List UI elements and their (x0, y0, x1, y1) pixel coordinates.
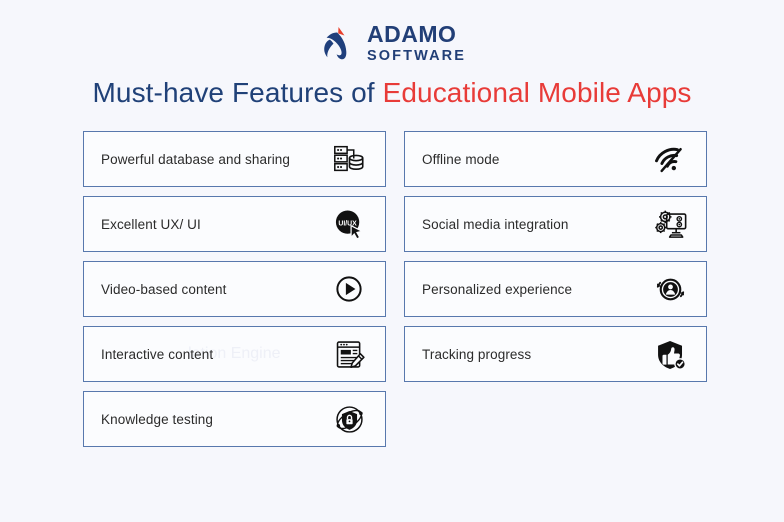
feature-card-label: Personalized experience (422, 282, 572, 297)
feature-column-left: Powerful database and sharing (83, 131, 386, 447)
gears-monitor-icon (651, 205, 689, 243)
shield-lock-orbit-icon (330, 400, 368, 438)
brand-name-line1: ADAMO (367, 23, 456, 46)
play-button-icon (330, 270, 368, 308)
feature-card-label: Video-based content (101, 282, 227, 297)
feature-card-label: Interactive content (101, 347, 213, 362)
feature-card-personalized-experience[interactable]: Personalized experience (404, 261, 707, 317)
svg-text:UI/UX: UI/UX (338, 220, 357, 227)
brand-wordmark: ADAMO SOFTWARE (367, 23, 466, 64)
database-server-icon (330, 140, 368, 178)
adamo-swoosh-logo-icon (318, 23, 358, 63)
feature-card-label: Tracking progress (422, 347, 531, 362)
feature-card-offline-mode[interactable]: Offline mode (404, 131, 707, 187)
feature-card-label: Knowledge testing (101, 412, 213, 427)
feature-card-label: Excellent UX/ UI (101, 217, 201, 232)
page-title-lead: Must-have Features of (92, 77, 382, 108)
feature-card-powerful-database-and-sharing[interactable]: Powerful database and sharing (83, 131, 386, 187)
brand-name-line2: SOFTWARE (367, 49, 466, 64)
feature-card-video-based-content[interactable]: Video-based content (83, 261, 386, 317)
document-pencil-icon (330, 335, 368, 373)
feature-card-knowledge-testing[interactable]: Knowledge testing (83, 391, 386, 447)
feature-card-tracking-progress[interactable]: Tracking progress (404, 326, 707, 382)
feature-card-excellent-ux-ui[interactable]: Excellent UX/ UI UI/UX (83, 196, 386, 252)
feature-card-label: Social media integration (422, 217, 568, 232)
feature-card-label: Offline mode (422, 152, 500, 167)
feature-cards-grid: Powerful database and sharing (83, 131, 707, 447)
feature-card-label: Powerful database and sharing (101, 152, 290, 167)
wifi-off-icon (651, 140, 689, 178)
page-title: Must-have Features of Educational Mobile… (0, 77, 784, 109)
brand-logo: ADAMO SOFTWARE (0, 0, 784, 64)
feature-card-interactive-content[interactable]: Interactive content lation Engine (83, 326, 386, 382)
person-circle-arrows-icon (651, 270, 689, 308)
feature-card-social-media-integration[interactable]: Social media integration (404, 196, 707, 252)
ui-ux-cursor-icon: UI/UX (330, 205, 368, 243)
shield-thumbs-up-check-icon (651, 335, 689, 373)
feature-column-right: Offline mode Social media integrat (404, 131, 707, 447)
page-title-accent: Educational Mobile Apps (383, 77, 692, 108)
brand-logo-inner: ADAMO SOFTWARE (318, 23, 466, 64)
